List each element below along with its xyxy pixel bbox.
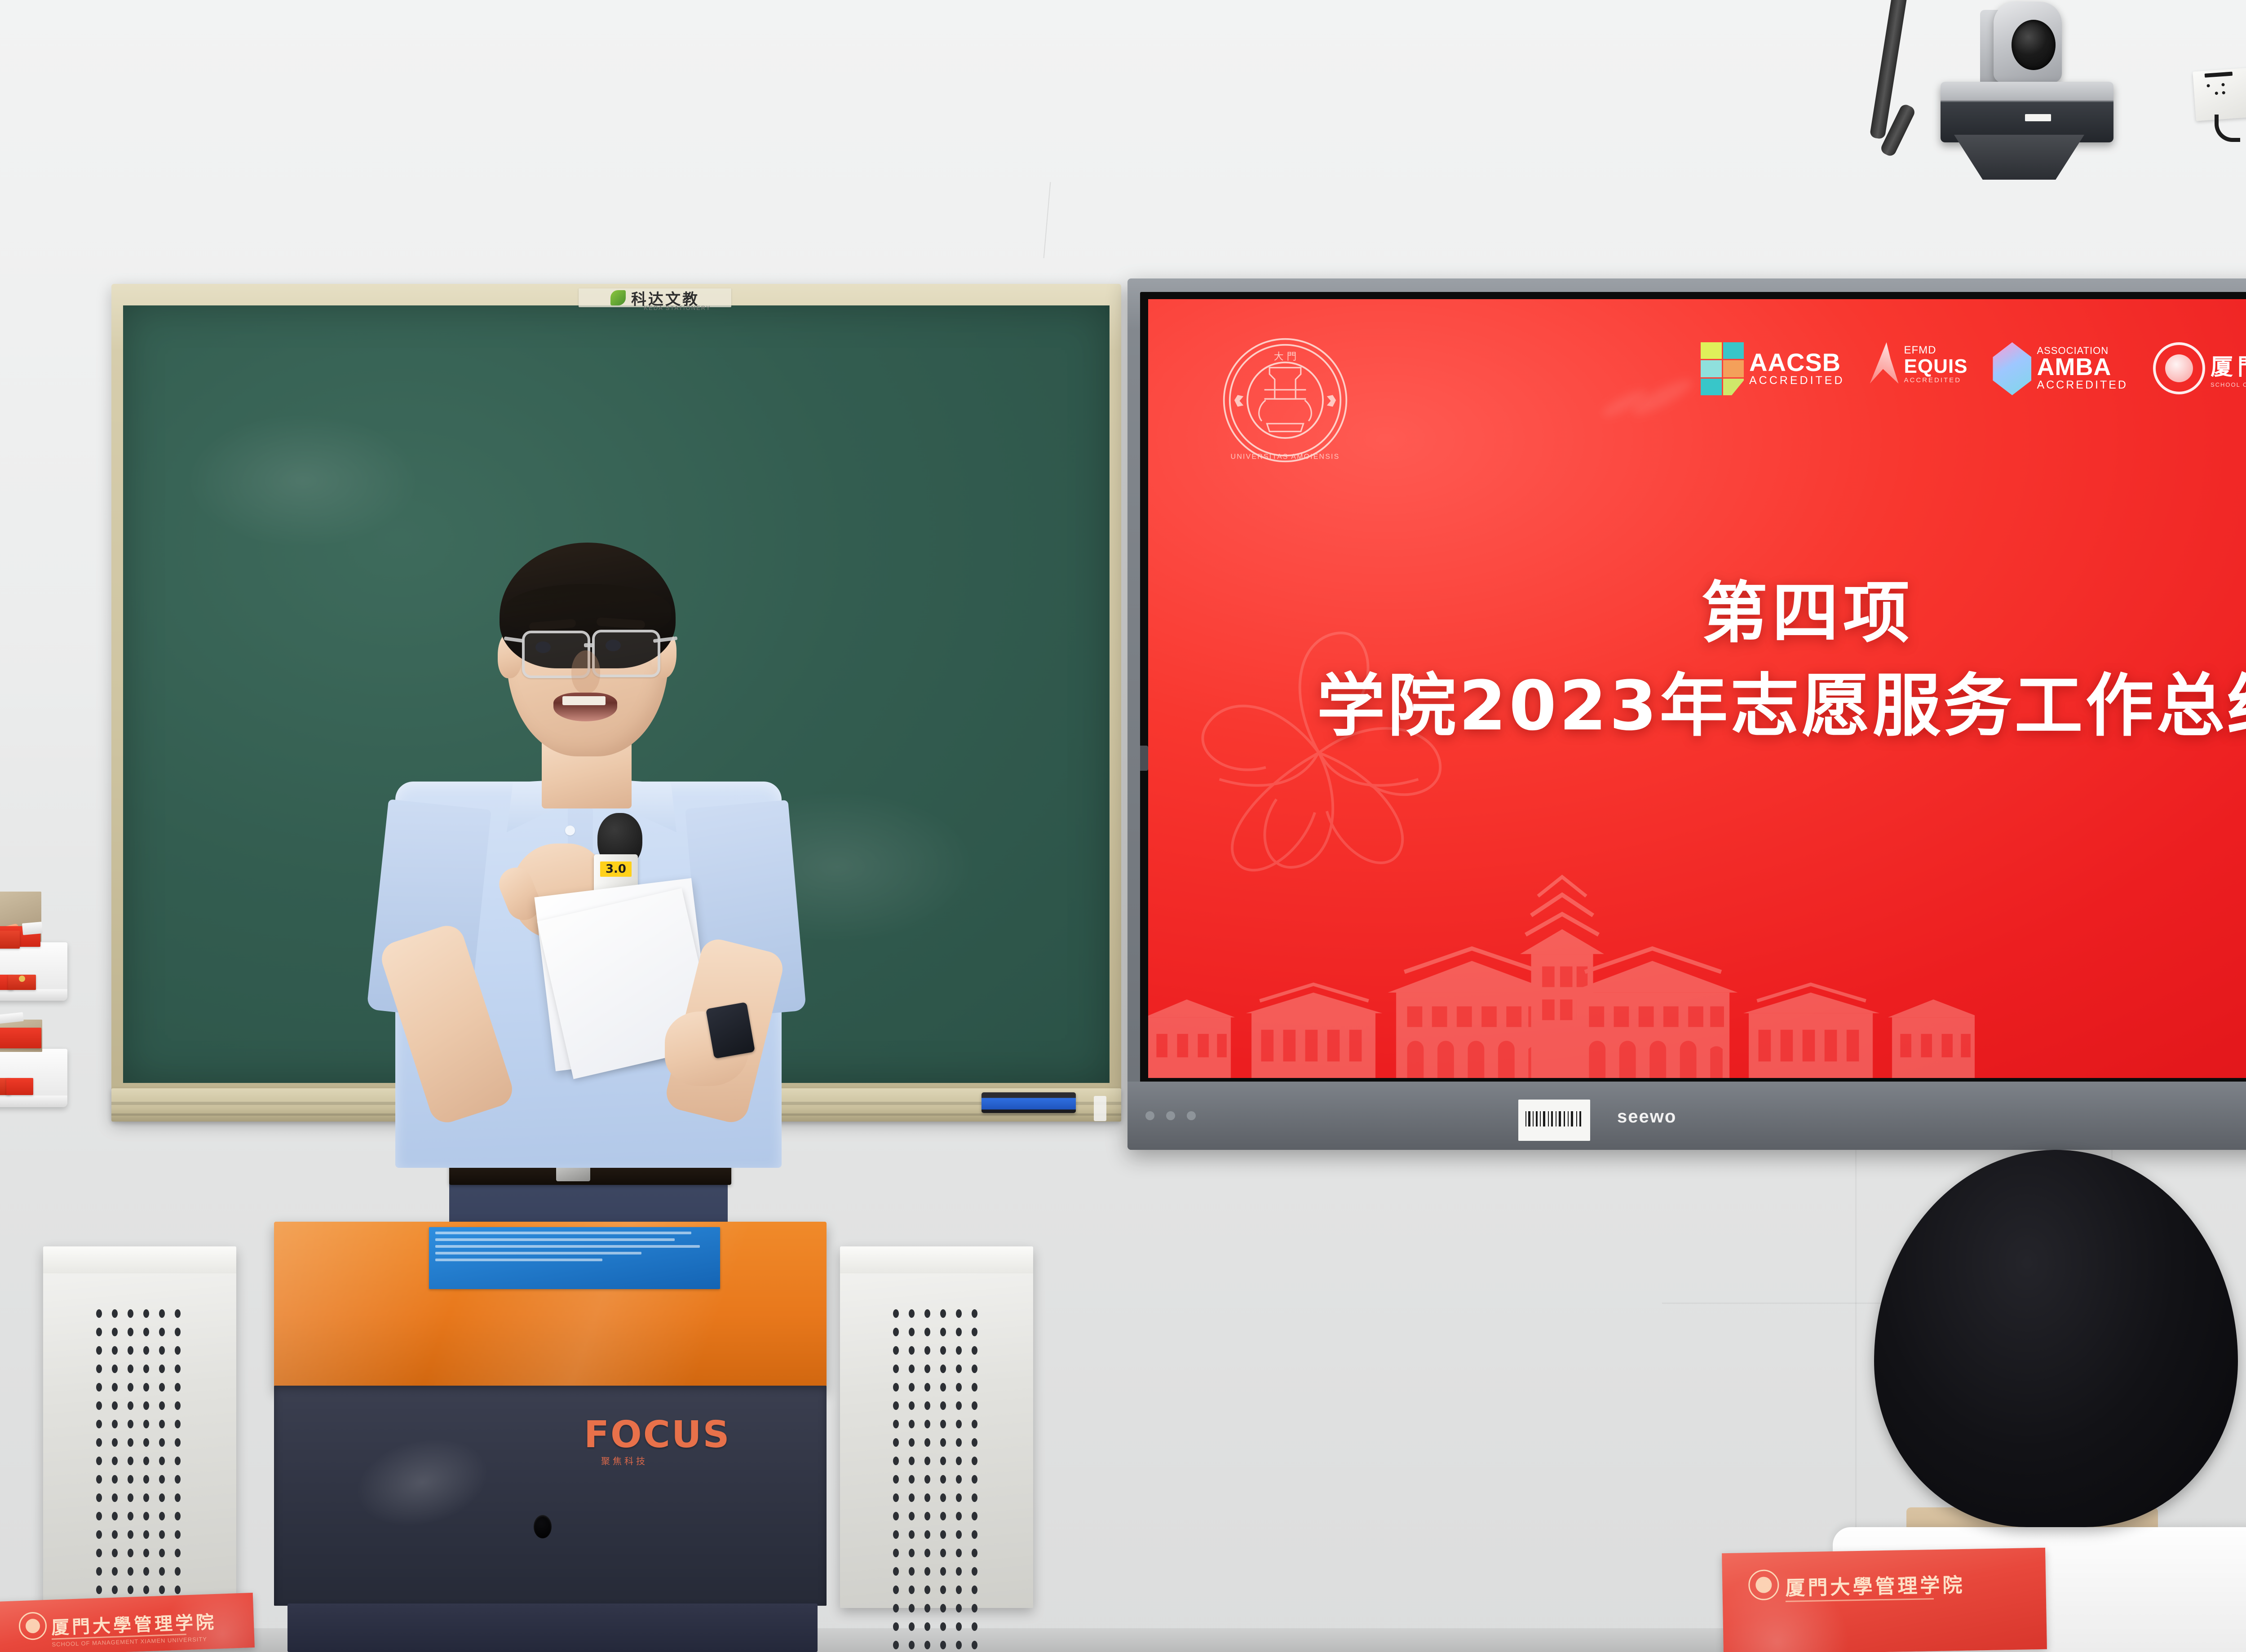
display-side-sensor — [1140, 746, 1148, 771]
wall-junction-box — [2193, 68, 2246, 121]
speaker-nose — [571, 650, 600, 693]
chalk-smudge — [186, 413, 420, 548]
banner-right-cn: 厦門大學管理学院 — [1785, 1569, 1965, 1601]
xmu-text: 厦門大學管理学院 SCHOOL OF MANAGEMENT XIAMEN UNI… — [2211, 349, 2246, 388]
podium-brand: FOCUS — [584, 1413, 731, 1456]
equis-sub: EFMD — [1904, 344, 1968, 357]
glasses-bridge — [584, 643, 594, 647]
camera-lens — [2012, 20, 2056, 70]
podium-scuff — [346, 1425, 498, 1540]
jiannan-auditorium-graphic — [1148, 871, 1975, 1078]
chalk-box — [6, 1078, 33, 1095]
equis-text: EFMD EQUIS ACCREDITED — [1904, 344, 1968, 384]
glasses-temple-left — [504, 636, 524, 643]
blackboard-brand-en: KEDA STATIONERY — [619, 305, 736, 311]
equis-name: EQUIS — [1904, 357, 1968, 376]
leaf-icon — [610, 290, 626, 305]
banner-left: 厦門大學管理学院 SCHOOL OF MANAGEMENT XIAMEN UNI… — [0, 1593, 255, 1652]
podium-brand-sub: 聚焦科技 — [601, 1454, 648, 1467]
logo-equis: EFMD EQUIS ACCREDITED — [1870, 342, 1968, 385]
wall-damage-patch — [1045, 155, 1080, 182]
aacsb-text: AACSB ACCREDITED — [1749, 350, 1845, 387]
slide-title-block: 第四项 学院2023年志愿服务工作总结 — [1148, 569, 2246, 754]
display-chin-bar: seewo — [1127, 1082, 2246, 1150]
display-inner-bezel: 大 門 UNIVERSITAS AMOIENSIS AACSB — [1140, 292, 2246, 1082]
aacsb-status: ACCREDITED — [1749, 374, 1845, 387]
aacsb-name: AACSB — [1749, 350, 1845, 374]
speaker-teeth — [562, 696, 606, 705]
wall-shelf-upper — [0, 942, 67, 1001]
home-button[interactable] — [1166, 1111, 1175, 1120]
university-seal: 大 門 UNIVERSITAS AMOIENSIS — [1220, 335, 1350, 465]
chalk-box — [0, 931, 20, 949]
interactive-display[interactable]: 大 門 UNIVERSITAS AMOIENSIS AACSB — [1127, 278, 2246, 1150]
logo-amba: ASSOCIATION AMBA ACCREDITED — [1993, 342, 2128, 395]
cabinet-grille — [893, 1309, 977, 1652]
banner-right: 厦門大學管理学院 — [1722, 1548, 2047, 1652]
amba-diamond-icon — [1993, 342, 2031, 395]
speaker-smartwatch — [706, 1002, 755, 1059]
classroom-scene-photo: 科达文教 KEDA STATIONERY — [0, 0, 2246, 1652]
power-button[interactable] — [1145, 1111, 1154, 1120]
school-name-en: SCHOOL OF MANAGEMENT XIAMEN UNIVERSITY — [2211, 381, 2246, 388]
podium-base — [287, 1603, 818, 1652]
svg-text:大 門: 大 門 — [1274, 351, 1296, 362]
school-name-cn: 厦門大學管理学院 — [2211, 349, 2246, 381]
speaker-cabinet-right — [840, 1246, 1033, 1608]
presentation-slide: 大 門 UNIVERSITAS AMOIENSIS AACSB — [1148, 299, 2246, 1078]
eraser-pad — [22, 922, 43, 935]
speaker-eye-right — [606, 640, 621, 651]
board-eraser[interactable] — [982, 1092, 1076, 1113]
display-brand: seewo — [1617, 1107, 1676, 1127]
podium-instruction-card — [429, 1227, 720, 1289]
podium-cable-hole — [534, 1515, 552, 1538]
camera-asset-tag — [2025, 114, 2051, 121]
shirt-button — [565, 826, 575, 835]
equis-status: ACCREDITED — [1904, 376, 1968, 384]
glasses-lens-right — [592, 630, 660, 677]
microphone-channel-label: 3.0 — [600, 861, 632, 877]
tray-clip — [1094, 1096, 1106, 1121]
amba-name: AMBA — [2037, 356, 2128, 379]
slide-title-line2: 学院2023年志愿服务工作总结 — [1148, 658, 2246, 754]
chin-control-dots — [1145, 1111, 1196, 1120]
speaker-eye-left — [535, 641, 551, 653]
logo-aacsb: AACSB ACCREDITED — [1701, 342, 1845, 395]
slide-title-line1: 第四项 — [1148, 569, 2246, 658]
menu-button[interactable] — [1187, 1111, 1196, 1120]
equis-swoosh-icon — [1870, 342, 1899, 385]
chalk-box — [0, 1028, 41, 1048]
podium-body: FOCUS 聚焦科技 — [274, 1386, 827, 1606]
aacsb-mark-icon — [1701, 342, 1744, 395]
speaker-cabinet-left — [43, 1246, 236, 1608]
banner-seal-icon — [18, 1612, 47, 1640]
sticker-dot — [19, 976, 25, 982]
amba-status: ACCREDITED — [2037, 379, 2128, 392]
accreditation-logo-row: AACSB ACCREDITED EFMD EQUIS ACCREDITED — [1701, 342, 2246, 395]
xmu-emblem-icon — [2153, 342, 2205, 394]
amba-text: ASSOCIATION AMBA ACCREDITED — [2037, 346, 2128, 392]
logo-school-of-management: 厦門大學管理学院 SCHOOL OF MANAGEMENT XIAMEN UNI… — [2153, 342, 2246, 394]
svg-text:UNIVERSITAS AMOIENSIS: UNIVERSITAS AMOIENSIS — [1231, 453, 1340, 461]
camera-base — [1941, 82, 2113, 142]
display-asset-sticker — [1518, 1100, 1590, 1141]
